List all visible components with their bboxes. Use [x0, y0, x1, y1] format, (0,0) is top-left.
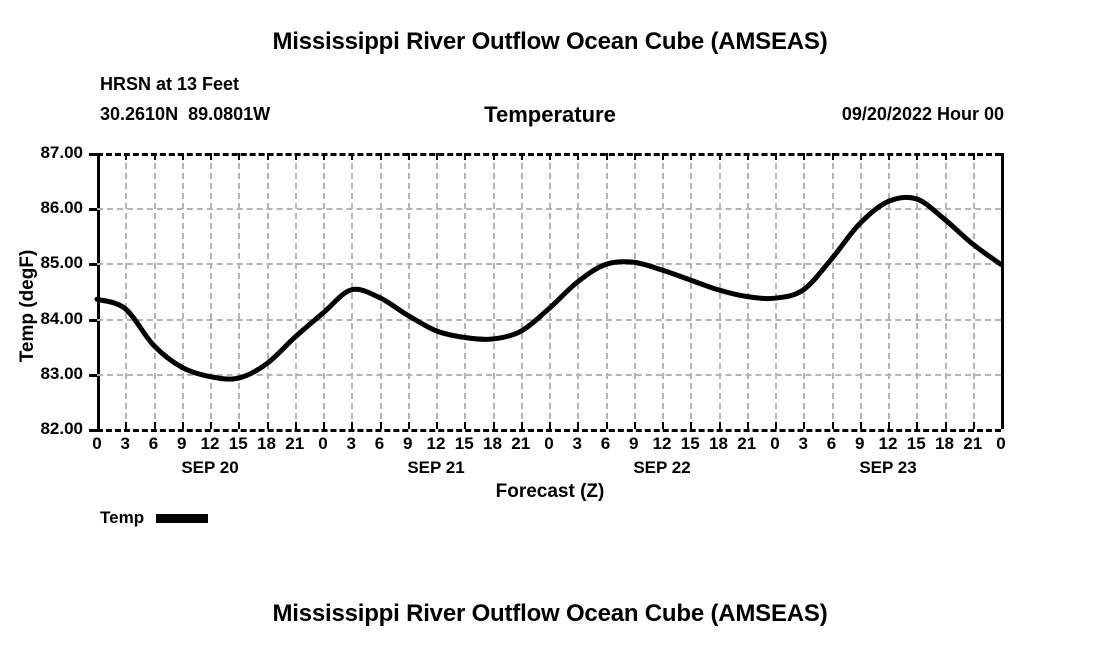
x-axis-tick-label: 6	[601, 434, 610, 454]
x-axis-day-label: SEP 20	[181, 458, 238, 478]
y-axis-tick-label: 87.00	[40, 143, 83, 163]
model-run-timestamp: 09/20/2022 Hour 00	[842, 104, 1004, 125]
x-axis-day-label: SEP 23	[859, 458, 916, 478]
x-axis-tick-label: 3	[573, 434, 582, 454]
x-axis-tick-label: 21	[285, 434, 304, 454]
x-axis-tick-label: 12	[201, 434, 220, 454]
x-axis-tick-label: 15	[907, 434, 926, 454]
x-axis-tick-label: 21	[737, 434, 756, 454]
x-axis-tick-label: 12	[879, 434, 898, 454]
x-axis-tick-label: 15	[229, 434, 248, 454]
x-axis-tick-label: 6	[827, 434, 836, 454]
x-axis-tick-label: 12	[653, 434, 672, 454]
legend-swatch-temp	[156, 514, 208, 523]
x-axis-tick-label: 0	[544, 434, 553, 454]
chart-page: Mississippi River Outflow Ocean Cube (AM…	[0, 0, 1100, 650]
y-axis-tick-mark	[89, 319, 97, 322]
x-axis-tick-label: 18	[483, 434, 502, 454]
x-axis-tick-label: 15	[681, 434, 700, 454]
x-axis-day-label: SEP 21	[407, 458, 464, 478]
y-axis-tick-mark	[89, 429, 97, 432]
legend-label-temp: Temp	[100, 508, 144, 528]
x-axis-tick-label: 3	[799, 434, 808, 454]
x-axis-tick-label: 21	[511, 434, 530, 454]
y-axis-tick-labels: 82.0083.0084.0085.0086.0087.00	[0, 153, 97, 429]
x-axis-tick-label: 15	[455, 434, 474, 454]
x-axis-tick-label: 0	[92, 434, 101, 454]
x-axis-tick-label: 6	[375, 434, 384, 454]
x-axis-tick-label: 6	[149, 434, 158, 454]
x-axis-tick-label: 12	[427, 434, 446, 454]
x-axis-day-label: SEP 22	[633, 458, 690, 478]
x-axis-tick-label: 9	[855, 434, 864, 454]
legend: Temp	[100, 508, 208, 528]
axis-bottom-border	[97, 429, 1001, 432]
x-axis-tick-label: 18	[935, 434, 954, 454]
x-axis-tick-label: 0	[996, 434, 1005, 454]
y-axis-tick-mark	[89, 153, 97, 156]
x-axis-tick-label: 3	[347, 434, 356, 454]
footer-title: Mississippi River Outflow Ocean Cube (AM…	[0, 600, 1100, 628]
x-axis-tick-label: 9	[403, 434, 412, 454]
y-axis-tick-label: 86.00	[40, 198, 83, 218]
station-depth-label: HRSN at 13 Feet	[100, 74, 239, 95]
y-axis-tick-label: 85.00	[40, 253, 83, 273]
y-axis-tick-mark	[89, 208, 97, 211]
y-axis-tick-mark	[89, 374, 97, 377]
temperature-series-line	[97, 153, 1001, 429]
y-axis-tick-mark	[89, 263, 97, 266]
x-axis-tick-label: 18	[257, 434, 276, 454]
x-axis-tick-label: 0	[318, 434, 327, 454]
x-axis-tick-label: 9	[629, 434, 638, 454]
x-axis-tick-label: 0	[770, 434, 779, 454]
x-axis-tick-label: 3	[121, 434, 130, 454]
page-title: Mississippi River Outflow Ocean Cube (AM…	[0, 28, 1100, 56]
axis-tick-top	[1001, 153, 1003, 160]
series-path-temp	[97, 197, 1001, 379]
x-axis-tick-label: 9	[177, 434, 186, 454]
axis-tick-bottom	[1001, 422, 1003, 429]
axis-right-border	[1001, 153, 1004, 429]
y-axis-tick-label: 82.00	[40, 419, 83, 439]
y-axis-tick-label: 84.00	[40, 309, 83, 329]
y-axis-tick-label: 83.00	[40, 364, 83, 384]
x-axis-tick-label: 21	[963, 434, 982, 454]
x-axis-tick-label: 18	[709, 434, 728, 454]
plot-area	[97, 153, 1001, 429]
x-axis-title: Forecast (Z)	[0, 481, 1100, 503]
